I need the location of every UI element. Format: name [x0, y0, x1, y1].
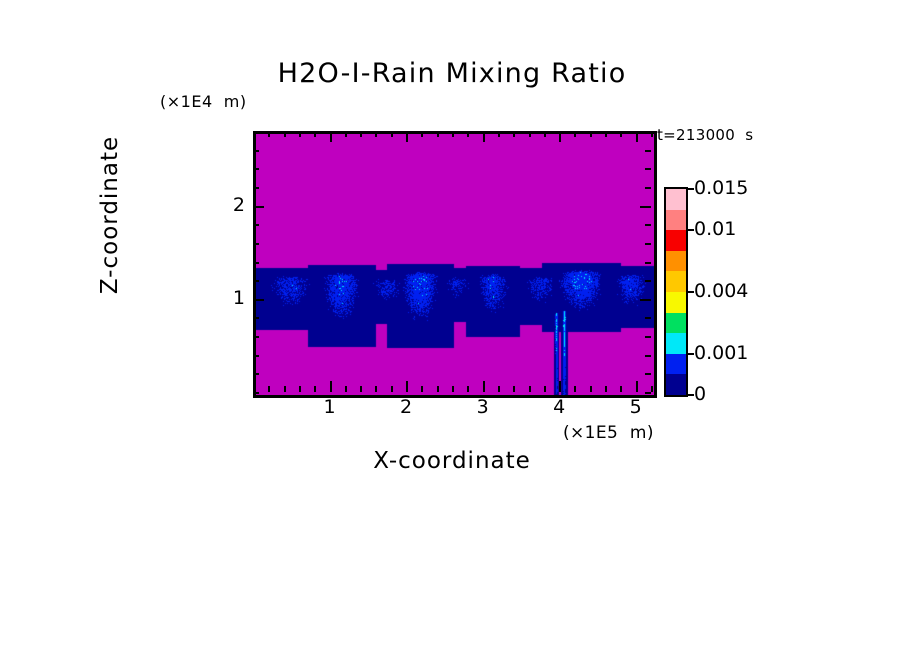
x-minor-tick — [467, 386, 469, 392]
x-minor-tick — [421, 386, 423, 392]
y-minor-tick — [253, 392, 259, 394]
x-minor-tick-top — [467, 131, 469, 137]
y-tick-label: 1 — [213, 287, 245, 309]
colorbar-label: 0 — [694, 383, 706, 405]
y-minor-tick-right — [645, 187, 651, 189]
x-minor-tick-top — [360, 131, 362, 137]
y-minor-tick-right — [645, 262, 651, 264]
y-minor-tick-right — [645, 392, 651, 394]
colorbar-segment — [666, 333, 686, 354]
x-minor-tick — [605, 386, 607, 392]
x-minor-tick-top — [314, 131, 316, 137]
x-tick-label: 4 — [539, 396, 579, 418]
y-minor-tick — [253, 131, 259, 133]
x-major-tick — [330, 381, 332, 392]
y-minor-tick — [253, 150, 259, 152]
x-minor-tick — [529, 386, 531, 392]
x-minor-tick-top — [437, 131, 439, 137]
x-minor-tick — [345, 386, 347, 392]
x-minor-tick — [375, 386, 377, 392]
y-minor-tick-right — [645, 355, 651, 357]
x-minor-tick — [360, 386, 362, 392]
x-major-tick-top — [636, 131, 638, 142]
y-minor-tick-right — [645, 280, 651, 282]
x-major-tick-top — [406, 131, 408, 142]
x-minor-tick-top — [590, 131, 592, 137]
x-minor-tick-top — [529, 131, 531, 137]
x-major-tick — [636, 381, 638, 392]
x-minor-tick — [620, 386, 622, 392]
x-minor-tick — [651, 386, 653, 392]
x-minor-tick — [513, 386, 515, 392]
colorbar-label: 0.001 — [694, 342, 748, 364]
colorbar-segment — [666, 374, 686, 395]
x-minor-tick — [574, 386, 576, 392]
x-minor-tick-top — [375, 131, 377, 137]
x-tick-label: 3 — [463, 396, 503, 418]
page-title: H2O-I-Rain Mixing Ratio — [0, 58, 904, 89]
x-minor-tick-top — [268, 131, 270, 137]
x-major-tick-top — [483, 131, 485, 142]
y-minor-tick-right — [645, 317, 651, 319]
x-tick-label: 1 — [310, 396, 350, 418]
x-minor-tick-top — [284, 131, 286, 137]
x-major-tick-top — [559, 131, 561, 142]
x-axis-title: X-coordinate — [253, 448, 651, 474]
y-minor-tick — [253, 168, 259, 170]
x-minor-tick — [268, 386, 270, 392]
x-minor-tick-top — [452, 131, 454, 137]
y-minor-tick-right — [645, 373, 651, 375]
y-minor-tick-right — [645, 336, 651, 338]
x-minor-tick — [437, 386, 439, 392]
x-major-tick — [559, 381, 561, 392]
x-minor-tick — [314, 386, 316, 392]
y-minor-tick-right — [645, 168, 651, 170]
colorbar-segment — [666, 354, 686, 375]
y-minor-tick — [253, 243, 259, 245]
time-annotation: t=213000 s — [657, 126, 753, 144]
x-tick-label: 5 — [616, 396, 656, 418]
y-minor-tick — [253, 336, 259, 338]
colorbar-label: 0.015 — [694, 177, 748, 199]
x-minor-tick-top — [391, 131, 393, 137]
y-minor-tick-right — [645, 224, 651, 226]
colorbar-segment — [666, 230, 686, 251]
colorbar-gradient — [664, 187, 688, 397]
x-minor-tick-top — [574, 131, 576, 137]
x-minor-tick-top — [421, 131, 423, 137]
x-minor-tick-top — [345, 131, 347, 137]
colorbar-segment — [666, 210, 686, 231]
x-major-tick — [406, 381, 408, 392]
x-tick-label: 2 — [386, 396, 426, 418]
y-minor-tick — [253, 187, 259, 189]
colorbar-label: 0.004 — [694, 280, 748, 302]
y-minor-tick — [253, 373, 259, 375]
y-minor-tick — [253, 262, 259, 264]
x-minor-tick — [299, 386, 301, 392]
colorbar-segment — [666, 313, 686, 334]
x-axis-unit-label: (×1E5 m) — [563, 423, 654, 443]
y-major-tick-right — [640, 299, 651, 301]
x-major-tick-top — [330, 131, 332, 142]
y-axis-unit-label: (×1E4 m) — [160, 92, 247, 111]
y-minor-tick — [253, 355, 259, 357]
x-minor-tick — [498, 386, 500, 392]
x-minor-tick-top — [605, 131, 607, 137]
x-minor-tick — [590, 386, 592, 392]
y-major-tick — [253, 206, 264, 208]
colorbar-segment — [666, 251, 686, 272]
x-minor-tick-top — [620, 131, 622, 137]
x-minor-tick-top — [299, 131, 301, 137]
y-major-tick — [253, 299, 264, 301]
y-tick-label: 2 — [213, 194, 245, 216]
colorbar-segment — [666, 271, 686, 292]
colorbar-segment — [666, 189, 686, 210]
colorbar-label: 0.01 — [694, 218, 736, 240]
x-minor-tick — [452, 386, 454, 392]
x-minor-tick-top — [513, 131, 515, 137]
y-minor-tick — [253, 317, 259, 319]
x-minor-tick-top — [651, 131, 653, 137]
y-major-tick-right — [640, 206, 651, 208]
y-minor-tick — [253, 224, 259, 226]
x-major-tick — [483, 381, 485, 392]
rain-mixing-ratio-field — [256, 134, 654, 395]
y-minor-tick — [253, 280, 259, 282]
x-minor-tick — [544, 386, 546, 392]
x-minor-tick — [391, 386, 393, 392]
y-minor-tick-right — [645, 131, 651, 133]
x-minor-tick-top — [544, 131, 546, 137]
y-minor-tick-right — [645, 243, 651, 245]
x-minor-tick — [284, 386, 286, 392]
colorbar-segment — [666, 292, 686, 313]
plot-area — [253, 131, 657, 398]
y-axis-title: Z-coordinate — [97, 85, 123, 345]
x-minor-tick-top — [498, 131, 500, 137]
y-minor-tick-right — [645, 150, 651, 152]
